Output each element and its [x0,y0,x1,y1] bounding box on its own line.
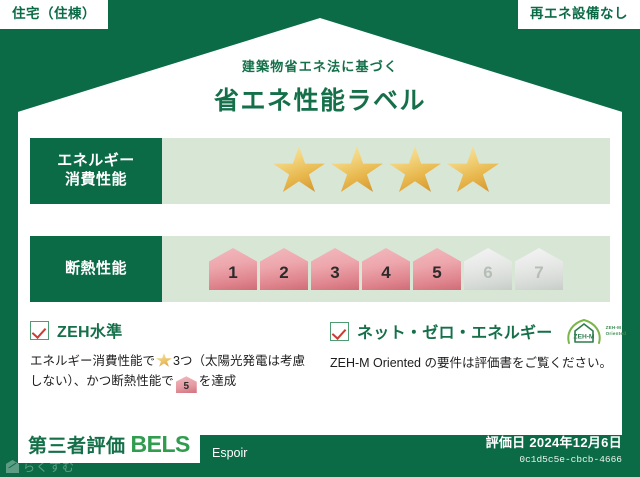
star-icon-2 [331,146,383,196]
insulation-level-1: 1 [209,248,257,290]
nze-criteria-body: ZEH-M Oriented の要件は評価書をご覧ください。 [330,353,615,373]
insulation-scale-area: 1 2 3 4 5 6 7 [162,236,610,302]
star-icon-1 [273,146,325,196]
check-icon-nze [330,322,349,341]
insulation-level-3: 3 [311,248,359,290]
watermark-text: らくすむ [23,458,75,475]
watermark: らくすむ [6,458,75,475]
building-name: Espoir [212,446,247,460]
star-icon-3 [389,146,441,196]
insulation-performance-row: 断熱性能 1 2 3 4 5 6 [30,236,610,302]
insulation-level-3-value: 3 [330,264,339,290]
energy-performance-label: エネルギー 消費性能 [30,138,162,204]
insulation-level-5-value: 5 [432,264,441,290]
insulation-level-7: 7 [515,248,563,290]
star-icon-inline [156,353,172,368]
energy-star-rating [162,138,610,204]
zehm-house-icon: ZEH-M [565,318,603,344]
zehm-caption-line-2: Oriented [606,331,627,337]
insulation-level-2-value: 2 [279,264,288,290]
zeh-criteria-body: エネルギー消費性能で3つ（太陽光発電は考慮しない）、かつ断熱性能で5を達成 [30,351,315,393]
renewable-energy-tag: 再エネ設備なし [518,0,640,29]
evaluation-id: 0c1d5c5e-cbcb-4666 [486,454,622,465]
nze-criteria-block: ネット・ゼロ・エネルギー ZEH-M ZEH-M Oriented ZEH-M … [330,318,615,373]
energy-label-card: 住宅（住棟） 再エネ設備なし 建築物省エネ法に基づく 省エネ性能ラベル エネルギ… [0,0,640,477]
nze-criteria-header: ネット・ゼロ・エネルギー ZEH-M ZEH-M Oriented [330,318,615,344]
insulation-level-4-value: 4 [381,264,390,290]
zehm-logo: ZEH-M ZEH-M Oriented [565,318,627,344]
title-main: 省エネ性能ラベル [0,81,640,117]
bels-label-en: BELS [131,431,190,458]
zeh-body-star-count: 3つ（太陽光発電 [173,354,267,368]
insulation-level-scale: 1 2 3 4 5 6 7 [209,248,563,290]
zeh-body-part-3: を達成 [199,374,237,388]
page-title: 建築物省エネ法に基づく 省エネ性能ラベル [0,56,640,117]
footer-bar: 第三者評価 BELS Espoir 評価日 2024年12月6日 0c1d5c5… [0,433,640,477]
energy-label-line-1: エネルギー [57,152,135,171]
nze-criteria-title: ネット・ゼロ・エネルギー [357,319,553,343]
watermark-house-icon [6,460,19,473]
insulation-level-7-value: 7 [534,264,543,290]
insulation-level-6-value: 6 [483,264,492,290]
energy-label-line-2: 消費性能 [65,171,127,190]
insulation-performance-label: 断熱性能 [30,236,162,302]
zeh-body-part-1: エネルギー消費性能で [30,354,155,368]
zeh-criteria-title: ZEH水準 [57,318,123,342]
insulation-level-2: 2 [260,248,308,290]
insulation-badge-inline: 5 [176,376,197,393]
zeh-criteria-block: ZEH水準 エネルギー消費性能で3つ（太陽光発電は考慮しない）、かつ断熱性能で5… [30,318,315,393]
svg-text:ZEH-M: ZEH-M [573,334,594,341]
building-type-tag: 住宅（住棟） [0,0,108,29]
check-icon-zeh [30,321,49,340]
bels-label-jp: 第三者評価 [28,431,126,458]
zehm-logo-caption: ZEH-M Oriented [606,325,627,336]
zeh-criteria-header: ZEH水準 [30,318,315,342]
star-icon-4 [447,146,499,196]
insulation-level-6: 6 [464,248,512,290]
insulation-level-4: 4 [362,248,410,290]
evaluation-date: 評価日 2024年12月6日 [486,432,622,451]
insulation-label-text: 断熱性能 [65,260,127,279]
energy-performance-row: エネルギー 消費性能 [30,138,610,204]
title-subtitle: 建築物省エネ法に基づく [0,56,640,75]
insulation-level-5: 5 [413,248,461,290]
evaluation-info: 評価日 2024年12月6日 0c1d5c5e-cbcb-4666 [486,432,622,465]
insulation-level-1-value: 1 [228,264,237,290]
